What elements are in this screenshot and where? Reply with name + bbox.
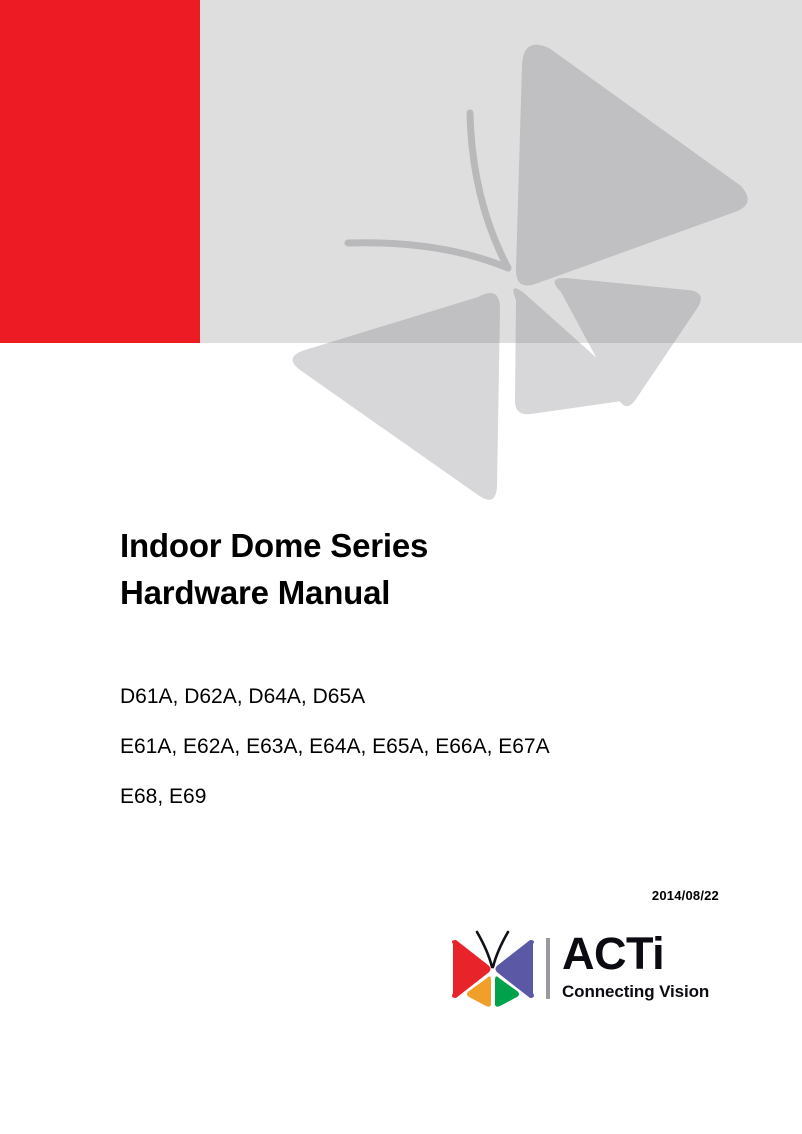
manual-cover-page: Indoor Dome Series Hardware Manual D61A,…	[0, 0, 802, 1134]
logo-wordmark: ACTi	[562, 929, 722, 979]
logo-tagline: Connecting Vision	[562, 981, 722, 1003]
logo-divider	[546, 938, 550, 999]
model-line-3: E68, E69	[120, 772, 550, 822]
acti-butterfly-mark-icon	[447, 929, 539, 1009]
model-list: D61A, D62A, D64A, D65A E61A, E62A, E63A,…	[120, 672, 550, 822]
title-line-2: Hardware Manual	[120, 569, 428, 616]
page-title: Indoor Dome Series Hardware Manual	[120, 522, 428, 616]
title-line-1: Indoor Dome Series	[120, 522, 428, 569]
header-red-band	[0, 0, 200, 343]
model-line-2: E61A, E62A, E63A, E64A, E65A, E66A, E67A	[120, 722, 550, 772]
document-date: 2014/08/22	[652, 888, 719, 903]
logo-text-group: ACTi Connecting Vision	[562, 929, 722, 1003]
header-gray-band	[200, 0, 802, 343]
model-line-1: D61A, D62A, D64A, D65A	[120, 672, 550, 722]
acti-logo: ACTi Connecting Vision	[447, 929, 719, 1014]
